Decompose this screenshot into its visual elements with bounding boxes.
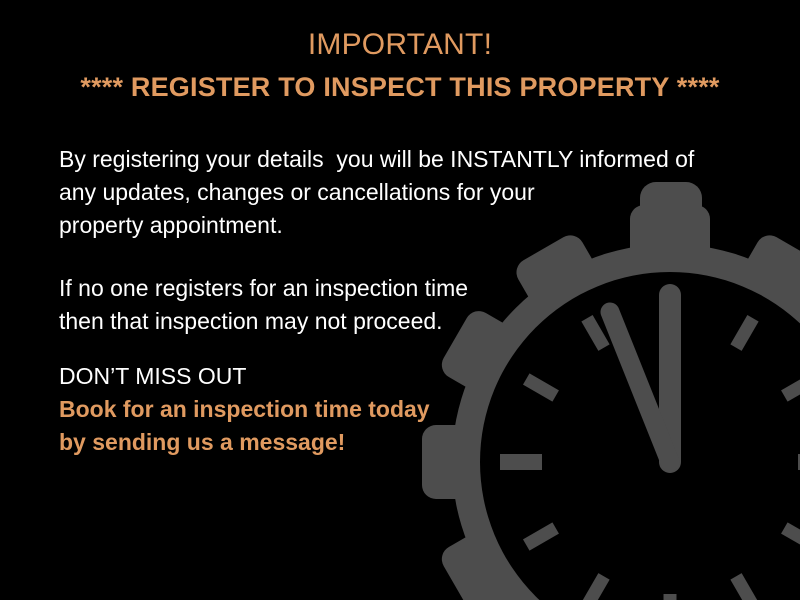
paragraph-noone-line-2: then that inspection may not proceed. <box>59 305 468 338</box>
paragraph-noone-line-1: If no one registers for an inspection ti… <box>59 272 468 305</box>
paragraph-register-line-1: By registering your details you will be … <box>59 143 694 176</box>
slide-text-layer: IMPORTANT! **** REGISTER TO INSPECT THIS… <box>0 0 800 600</box>
headline-block: IMPORTANT! **** REGISTER TO INSPECT THIS… <box>0 26 800 104</box>
headline-important: IMPORTANT! <box>0 26 800 64</box>
cta-book-inspection: Book for an inspection time today <box>59 393 430 426</box>
cta-dont-miss-out: DON’T MISS OUT <box>59 360 430 393</box>
paragraph-register-line-3: property appointment. <box>59 209 694 242</box>
paragraph-call-to-action: DON’T MISS OUT Book for an inspection ti… <box>59 360 430 459</box>
paragraph-register-details: By registering your details you will be … <box>59 143 694 242</box>
paragraph-register-line-2: any updates, changes or cancellations fo… <box>59 176 694 209</box>
cta-send-message: by sending us a message! <box>59 426 430 459</box>
headline-register-to-inspect: **** REGISTER TO INSPECT THIS PROPERTY *… <box>0 70 800 104</box>
slide-canvas: IMPORTANT! **** REGISTER TO INSPECT THIS… <box>0 0 800 600</box>
paragraph-no-registration-warning: If no one registers for an inspection ti… <box>59 272 468 338</box>
